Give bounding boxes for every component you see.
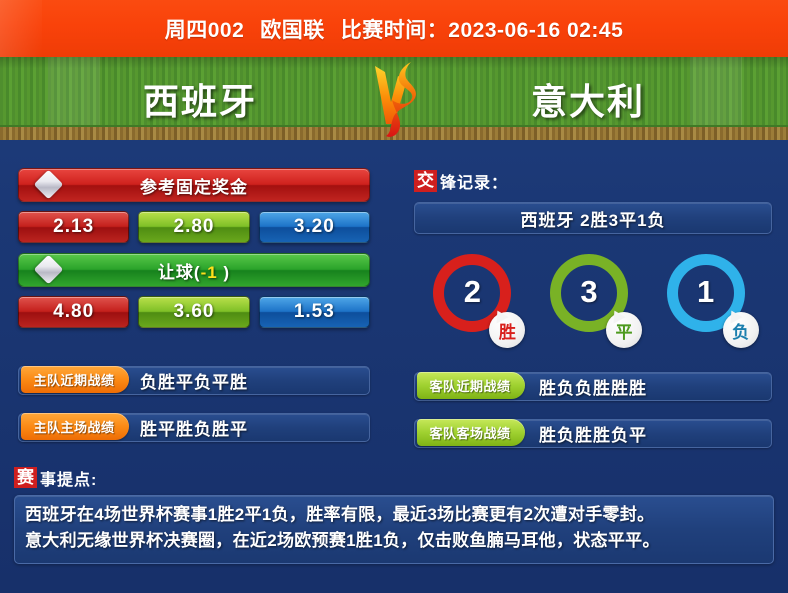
home-recent-form-row: 主队近期战绩 负胜平负平胜 <box>18 366 370 395</box>
home-venue-form-label: 主队主场战绩 <box>21 413 129 440</box>
fixed-odds-banner: 参考固定奖金 <box>18 168 370 202</box>
h2h-draw-circle: 3 平 <box>550 254 636 340</box>
h2h-win-badge: 胜 <box>489 312 525 348</box>
fixed-odd-draw[interactable]: 2.80 <box>138 211 249 243</box>
away-recent-form-value: 胜负负胜胜胜 <box>539 374 647 399</box>
h2h-title-tag: 交 <box>414 170 437 192</box>
h2h-win-count: 2 <box>464 274 481 310</box>
fixed-odd-home[interactable]: 2.13 <box>18 211 129 243</box>
handicap-odd-home[interactable]: 4.80 <box>18 296 129 328</box>
h2h-loss-count: 1 <box>697 274 714 310</box>
header-title: 周四002欧国联比赛时间：2023-06-16 02:45 <box>165 14 624 44</box>
vs-flame-icon-svg <box>359 58 429 140</box>
header-league: 欧国联 <box>260 19 325 42</box>
diamond-icon <box>33 170 63 200</box>
home-recent-form-label: 主队近期战绩 <box>21 366 129 393</box>
home-team-name: 西班牙 <box>50 73 350 125</box>
handicap-odds-row: 4.80 3.60 1.53 <box>18 296 370 328</box>
header-bar: 周四002欧国联比赛时间：2023-06-16 02:45 <box>0 0 788 57</box>
home-recent-form-value: 负胜平负平胜 <box>140 368 248 393</box>
fixed-odd-away[interactable]: 3.20 <box>259 211 370 243</box>
handicap-suffix: ) <box>218 263 230 282</box>
fixed-odds-banner-label: 参考固定奖金 <box>140 173 248 198</box>
h2h-panel: 交 锋记录： 西班牙 2胜3平1负 2 胜 3 平 1 <box>414 168 772 448</box>
analysis-line: 西班牙在4场世界杯赛事1胜2平1负，胜率有限，最近3场比赛更有2次遭对手零封。 <box>25 502 763 528</box>
analysis-panel: 赛 事提点: 西班牙在4场世界杯赛事1胜2平1负，胜率有限，最近3场比赛更有2次… <box>14 464 774 564</box>
analysis-box: 西班牙在4场世界杯赛事1胜2平1负，胜率有限，最近3场比赛更有2次遭对手零封。 … <box>14 495 774 564</box>
analysis-title-tag: 赛 <box>14 467 37 489</box>
handicap-value: -1 <box>201 263 218 282</box>
h2h-loss-circle: 1 负 <box>667 254 753 340</box>
handicap-prefix: 让球( <box>158 263 201 282</box>
header-time-label: 比赛时间： <box>341 19 449 42</box>
away-venue-form-label: 客队客场战绩 <box>417 419 525 446</box>
match-preview-card: 周四002欧国联比赛时间：2023-06-16 02:45 西班牙 <box>0 0 788 593</box>
h2h-summary-value: 西班牙 2胜3平1负 <box>520 206 665 231</box>
analysis-title-text: 事提点: <box>40 466 97 490</box>
away-venue-form-row: 客队客场战绩 胜负胜胜负平 <box>414 419 772 448</box>
analysis-line: 意大利无缘世界杯决赛圈，在近2场欧预赛1胜1负，仅击败鱼腩马耳他，状态平平。 <box>25 528 763 554</box>
away-venue-form-value: 胜负胜胜负平 <box>539 421 647 446</box>
vs-flame-icon <box>350 58 438 140</box>
handicap-odd-away[interactable]: 1.53 <box>259 296 370 328</box>
away-recent-form-label: 客队近期战绩 <box>417 372 525 399</box>
away-team-name: 意大利 <box>438 73 738 125</box>
h2h-win-circle: 2 胜 <box>433 254 519 340</box>
odds-panel: 参考固定奖金 2.13 2.80 3.20 让球(-1 ) 4.80 3.60 … <box>18 168 370 442</box>
diamond-icon <box>33 255 63 285</box>
teams-row: 西班牙 意大利 <box>0 57 788 140</box>
home-venue-form-value: 胜平胜负胜平 <box>140 415 248 440</box>
analysis-title: 赛 事提点: <box>14 464 774 491</box>
h2h-draw-badge: 平 <box>606 312 642 348</box>
handicap-banner-label: 让球(-1 ) <box>158 258 230 283</box>
h2h-summary-field: 西班牙 2胜3平1负 <box>414 202 772 234</box>
handicap-banner: 让球(-1 ) <box>18 253 370 287</box>
header-datetime: 2023-06-16 02:45 <box>448 19 623 42</box>
header-match-number: 周四002 <box>165 19 245 42</box>
handicap-odd-draw[interactable]: 3.60 <box>138 296 249 328</box>
away-recent-form-row: 客队近期战绩 胜负负胜胜胜 <box>414 372 772 401</box>
h2h-draw-count: 3 <box>580 274 597 310</box>
h2h-loss-badge: 负 <box>723 312 759 348</box>
h2h-title-text: 锋记录： <box>440 169 508 193</box>
fixed-odds-row: 2.13 2.80 3.20 <box>18 211 370 243</box>
home-venue-form-row: 主队主场战绩 胜平胜负胜平 <box>18 413 370 442</box>
h2h-title: 交 锋记录： <box>414 168 772 194</box>
h2h-circles: 2 胜 3 平 1 负 <box>414 254 772 340</box>
